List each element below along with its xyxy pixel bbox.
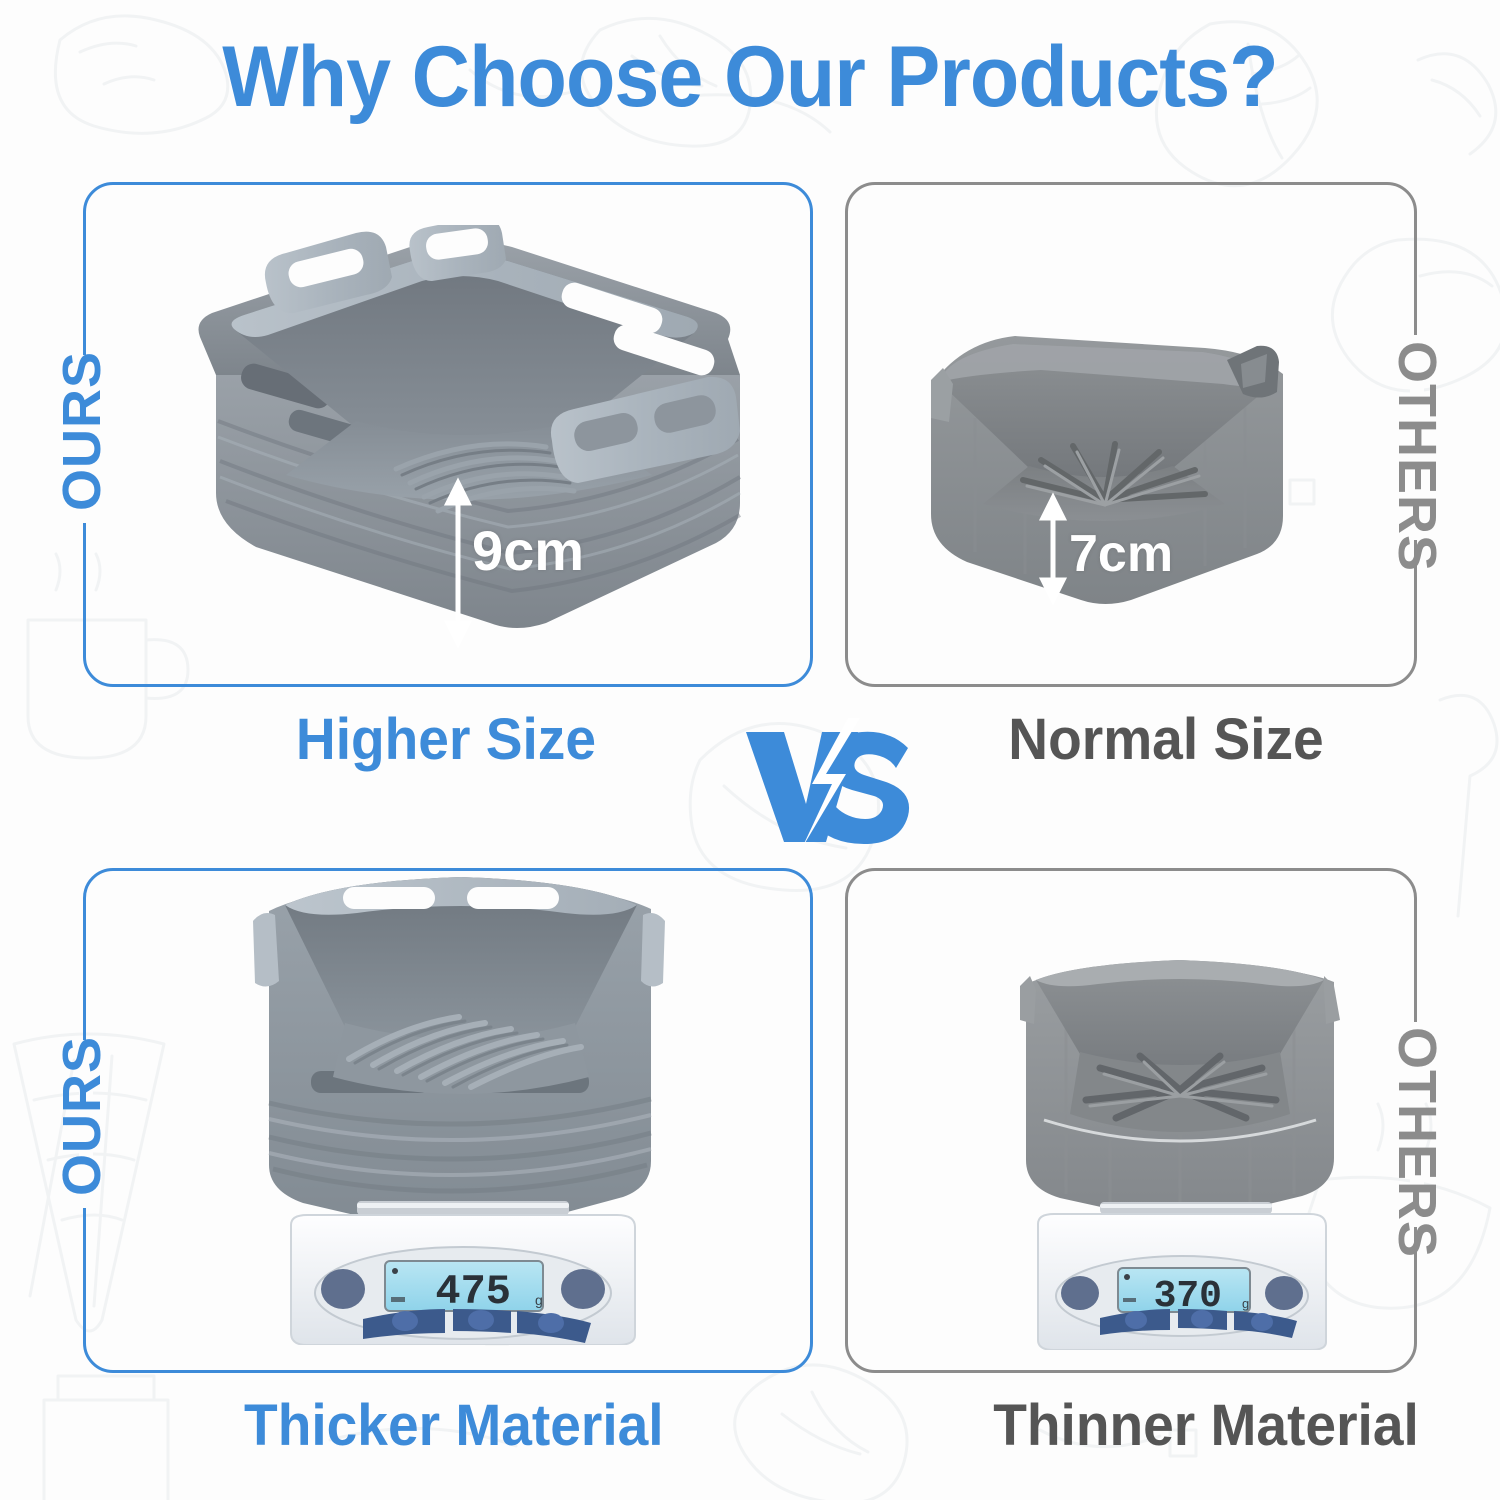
scale-reading-left: 475 [435,1268,511,1316]
side-label-ours-bottom: OURS [51,1026,113,1206]
caption-higher-size: Higher Size [296,706,596,773]
dimension-label-7cm: 7cm [1069,524,1173,584]
page-title: Why Choose Our Products? [45,28,1455,127]
product-image-ours-liner-on-scale: 475 g [245,865,675,1345]
side-label-others-top: OTHERS [1386,341,1448,521]
vs-badge [740,718,915,848]
product-image-others-liner-on-scale: 370 g [990,950,1370,1350]
caption-normal-size: Normal Size [1008,706,1323,773]
scale-unit-left: g [535,1292,543,1308]
product-image-ours-tall-liner [160,225,760,655]
caption-thicker-material: Thicker Material [244,1392,664,1459]
side-label-ours-top: OURS [51,341,113,521]
infographic-canvas: Why Choose Our Products? OURS [0,0,1500,1500]
scale-unit-right: g [1242,1296,1249,1311]
dimension-label-9cm: 9cm [472,518,584,583]
caption-thinner-material: Thinner Material [993,1392,1419,1459]
side-label-others-bottom: OTHERS [1386,1027,1448,1207]
